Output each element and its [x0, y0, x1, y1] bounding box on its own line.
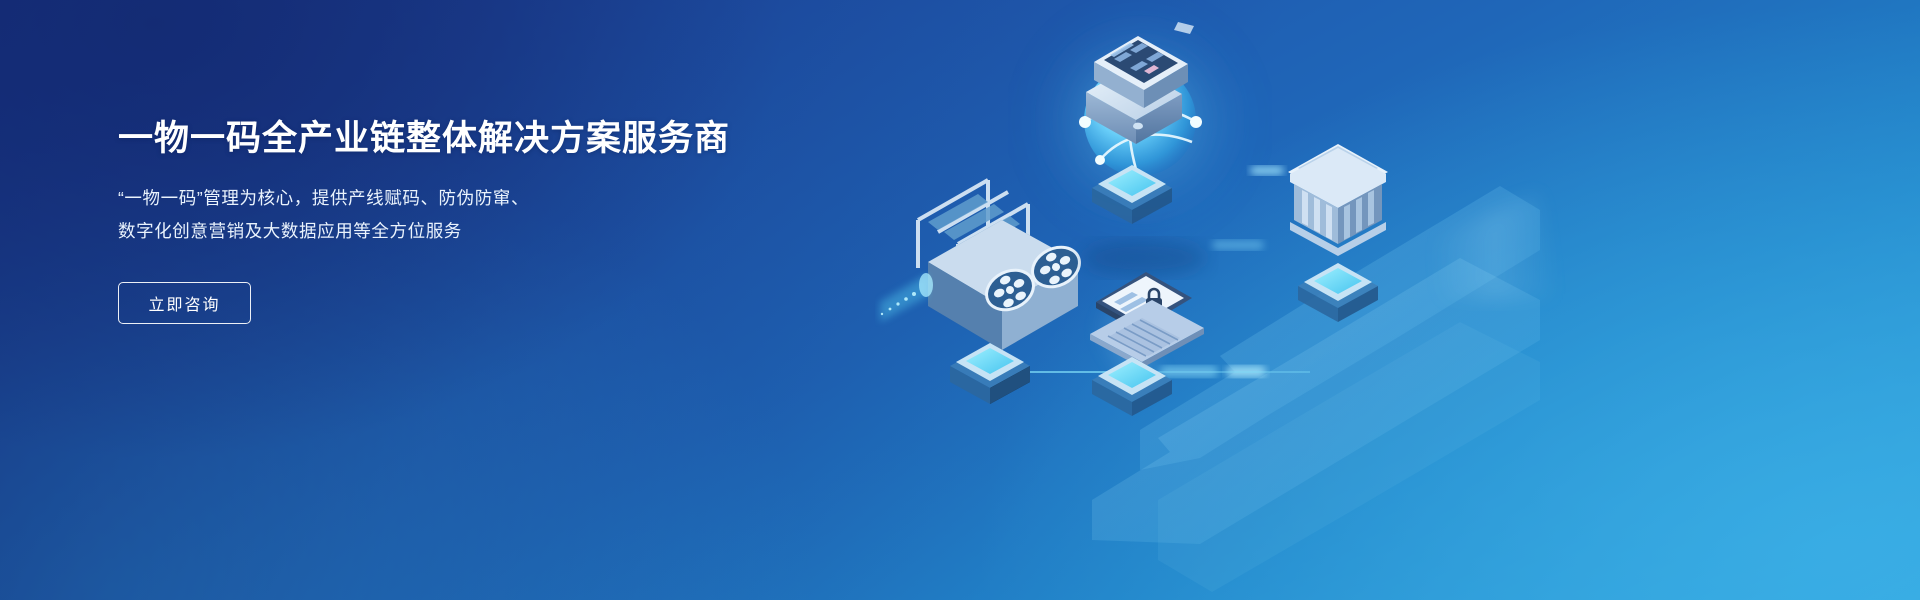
data-emitter-icon — [880, 273, 933, 322]
server-fan-rack-icon — [880, 180, 1088, 350]
isometric-iot-network-illustration — [840, 0, 1920, 600]
hero-subtitle: “一物一码”管理为核心，提供产线赋码、防伪防窜、 数字化创意营销及大数据应用等全… — [118, 182, 858, 248]
consult-now-button[interactable]: 立即咨询 — [118, 282, 251, 324]
subtitle-line-1: “一物一码”管理为核心，提供产线赋码、防伪防窜、 — [118, 182, 858, 215]
hero-banner: 一物一码全产业链整体解决方案服务商 “一物一码”管理为核心，提供产线赋码、防伪防… — [0, 0, 1920, 600]
subtitle-line-2: 数字化创意营销及大数据应用等全方位服务 — [118, 215, 858, 248]
page-title: 一物一码全产业链整体解决方案服务商 — [118, 118, 858, 160]
bank-building-icon — [1288, 144, 1388, 256]
node-pedestal-icon — [950, 343, 1030, 404]
hero-content: 一物一码全产业链整体解决方案服务商 “一物一码”管理为核心，提供产线赋码、防伪防… — [118, 118, 858, 324]
